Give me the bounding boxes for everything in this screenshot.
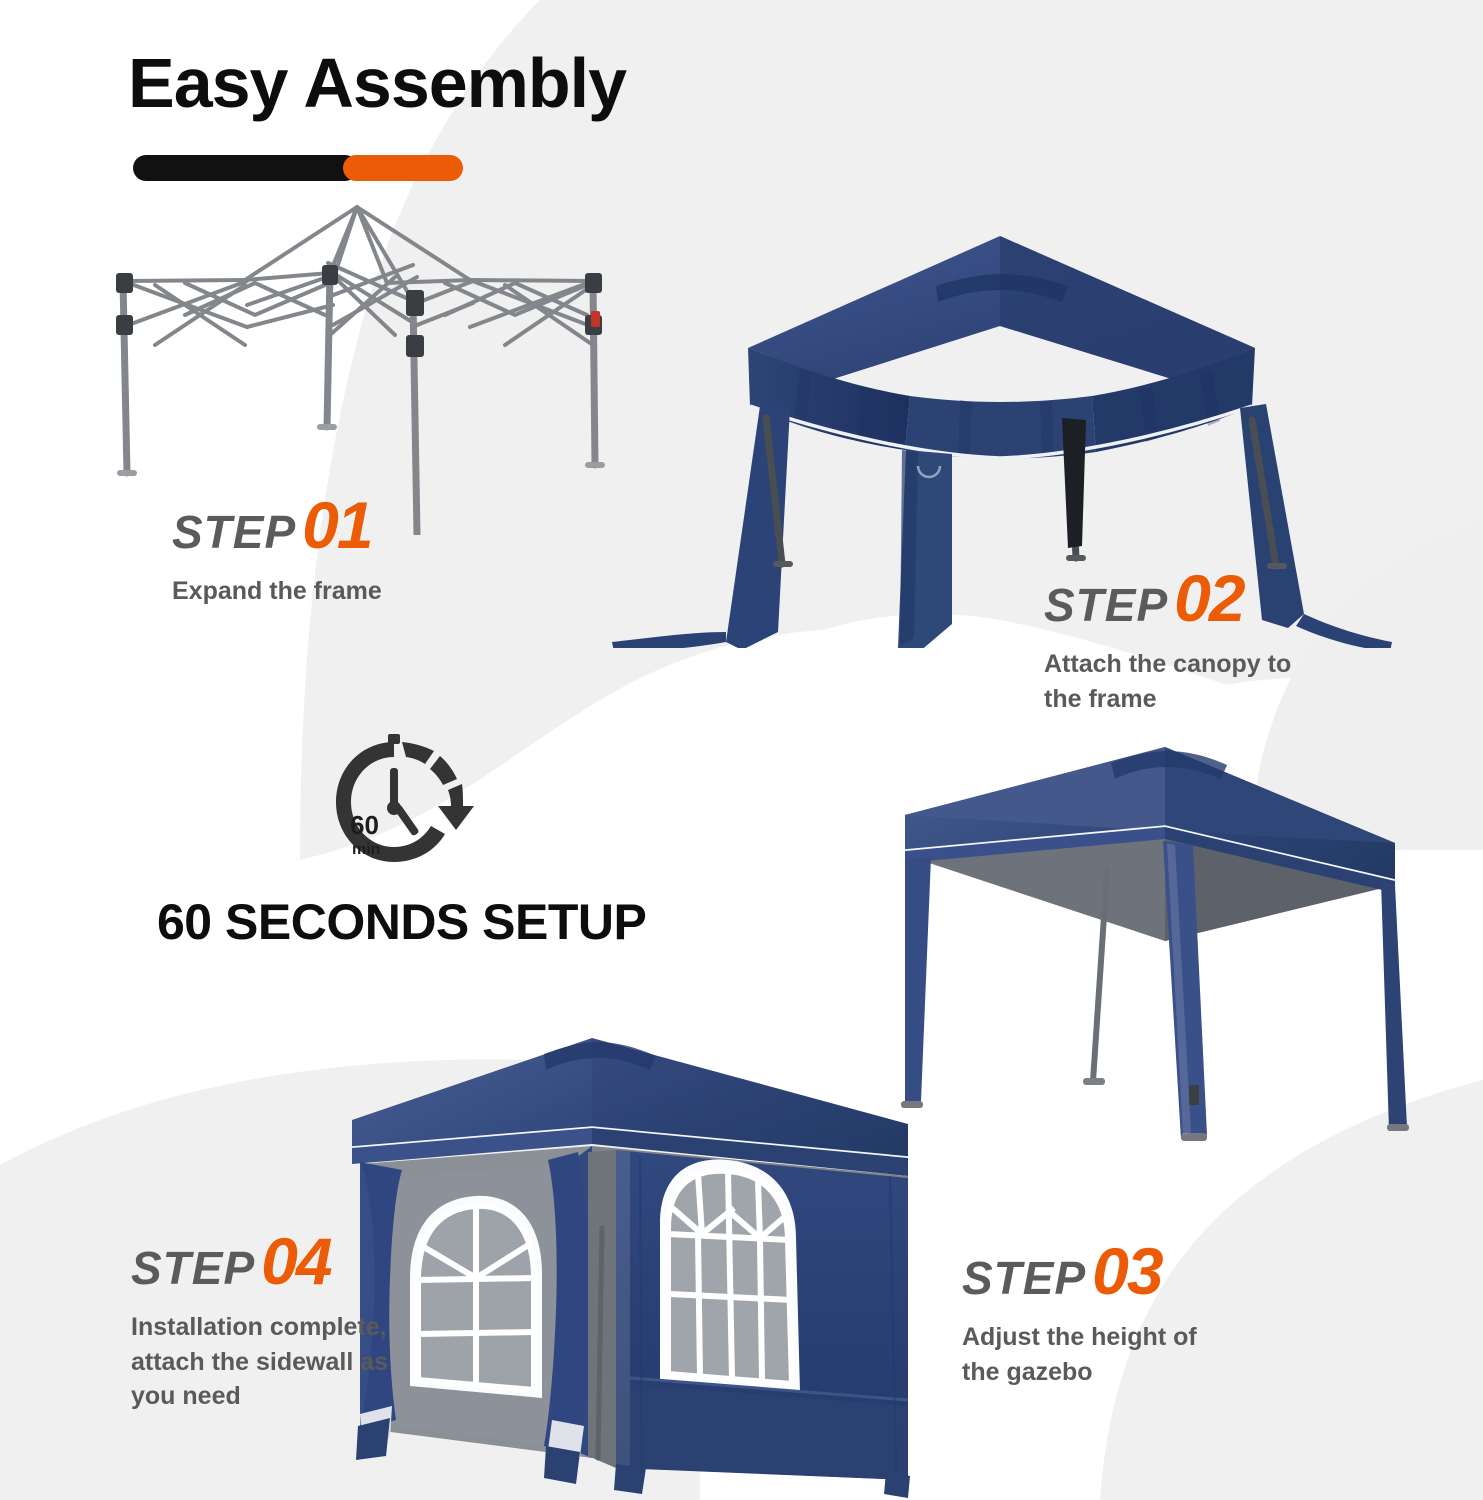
- canopy-frame-illustration: [95, 185, 625, 535]
- page-title: Easy Assembly: [128, 48, 626, 118]
- step-01-word: STEP: [172, 506, 296, 558]
- underline-dark-segment: [133, 155, 358, 181]
- step-01-block: STEP01 Expand the frame: [172, 492, 382, 609]
- step-04-word: STEP: [131, 1242, 255, 1294]
- frame-release-tab-icon: [591, 311, 600, 327]
- step-02-word: STEP: [1044, 579, 1168, 631]
- step-01-heading: STEP01: [172, 492, 382, 558]
- gazebo-erected-illustration: [875, 735, 1425, 1175]
- timer-value-label: 60: [350, 810, 379, 840]
- step-02-caption: Attach the canopy to the frame: [1044, 647, 1334, 716]
- title-underline-bar: [133, 155, 463, 181]
- step-01-number: 01: [302, 488, 371, 562]
- sidewall-window-left: [410, 1196, 542, 1398]
- timer-unit-label: min: [352, 841, 380, 858]
- step-04-caption: Installation complete, attach the sidewa…: [131, 1310, 396, 1414]
- sidewall-window-right: [660, 1160, 800, 1392]
- step-01-caption: Expand the frame: [172, 574, 382, 609]
- underline-accent-segment: [343, 155, 463, 181]
- step-03-caption: Adjust the height of the gazebo: [962, 1320, 1232, 1389]
- step-03-word: STEP: [962, 1252, 1086, 1304]
- gazebo-sidewalls-illustration: [330, 1028, 930, 1500]
- step-03-number: 03: [1092, 1234, 1161, 1308]
- step-02-block: STEP02 Attach the canopy to the frame: [1044, 565, 1334, 716]
- step-02-number: 02: [1174, 561, 1243, 635]
- step-04-number: 04: [261, 1224, 330, 1298]
- step-04-heading: STEP04: [131, 1228, 396, 1294]
- stopwatch-60-min-icon: 60 min: [322, 730, 497, 870]
- step-03-block: STEP03 Adjust the height of the gazebo: [962, 1238, 1232, 1389]
- step-02-heading: STEP02: [1044, 565, 1334, 631]
- setup-time-heading: 60 SECONDS SETUP: [157, 893, 646, 951]
- step-03-heading: STEP03: [962, 1238, 1232, 1304]
- step-04-block: STEP04 Installation complete, attach the…: [131, 1228, 396, 1414]
- infographic-page: Easy Assembly: [0, 0, 1483, 1500]
